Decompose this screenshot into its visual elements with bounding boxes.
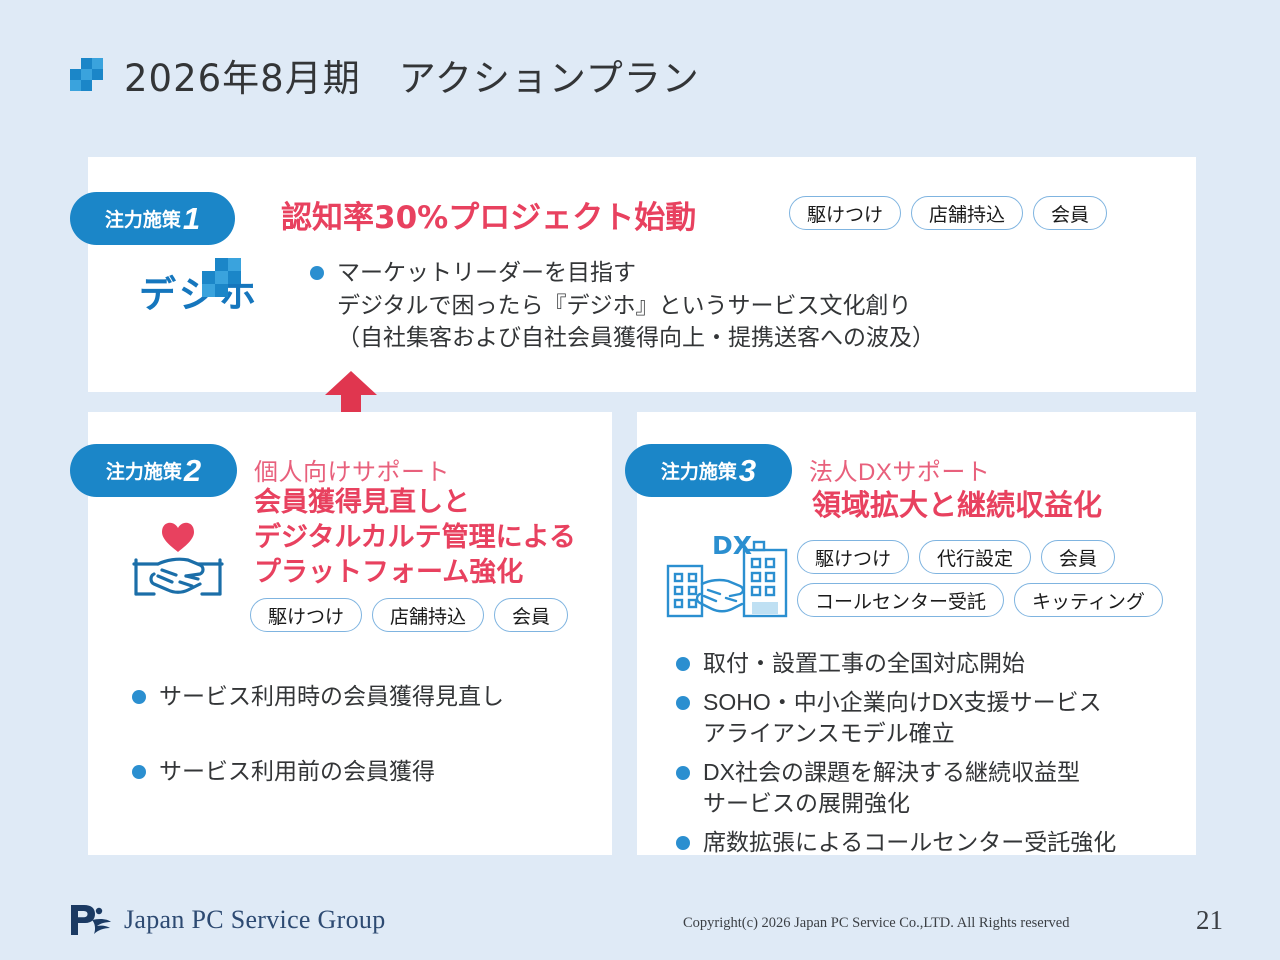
badge-number: 1 [183,203,200,234]
japan-pc-service-logo-icon [68,902,112,938]
list-item-text: 席数拡張によるコールセンター受託強化 [703,827,1116,858]
panel2-subtitle: 個人向けサポート [254,452,450,487]
panel3-bullet-list: 取付・設置工事の全国対応開始 SOHO・中小企業向けDX支援サービス アライアン… [676,648,1116,858]
list-item: DX社会の課題を解決する継続収益型 サービスの展開強化 [676,757,1116,819]
badge-initiative-1: 注力施策 1 [70,192,235,245]
tag-kaiin[interactable]: 会員 [1041,540,1115,574]
bullet-dot-icon [310,266,324,280]
badge-number: 3 [739,455,756,486]
badge-initiative-3: 注力施策 3 [625,444,792,497]
tag-kaiin[interactable]: 会員 [1033,196,1107,230]
badge-label: 注力施策 [661,457,737,484]
footer-copyright: Copyright(c) 2026 Japan PC Service Co.,L… [683,915,1070,932]
list-item: サービス利用前の会員獲得 [132,756,504,787]
badge-label: 注力施策 [106,457,182,484]
tag-daiko-settei[interactable]: 代行設定 [919,540,1031,574]
dejiho-logo-text: デジホ [124,264,274,318]
bullet-dot-icon [132,690,146,704]
panel3-title: 領域拡大と継続収益化 [812,482,1102,524]
panel2-title: 会員獲得見直しと デジタルカルテ管理による プラットフォーム強化 [254,485,576,590]
bullet-dot-icon [132,765,146,779]
panel3-tag-rows: 駆けつけ 代行設定 会員 コールセンター受託 キッティング [797,540,1163,617]
slide-canvas: 2026年8月期 アクションプラン 注力施策 1 認知率30%プロジェクト始動 … [0,0,1280,960]
panel1-title: 認知率30%プロジェクト始動 [281,192,696,237]
footer-company-name: Japan PC Service Group [124,905,386,935]
list-item: 取付・設置工事の全国対応開始 [676,648,1116,679]
panel2-bullet-list: サービス利用時の会員獲得見直し サービス利用前の会員獲得 [132,681,504,787]
panel1-bullet-item: マーケットリーダーを目指す デジタルで困ったら『デジホ』というサービス文化創り … [310,256,935,354]
badge-label: 注力施策 [105,205,181,232]
list-item: 席数拡張によるコールセンター受託強化 [676,827,1116,858]
pinwheel-logo-icon [68,58,104,92]
footer-logo: Japan PC Service Group [68,902,386,938]
list-item-text: 取付・設置工事の全国対応開始 [703,648,1025,679]
bullet-dot-icon [676,696,690,710]
page-number: 21 [1196,905,1223,936]
handshake-heart-icon [128,518,228,606]
dx-label: DX [712,531,752,560]
panel3-tag-row-1: 駆けつけ 代行設定 会員 [797,540,1163,574]
tag-kitting[interactable]: キッティング [1014,583,1163,617]
panel1-bullet-text: マーケットリーダーを目指す デジタルで困ったら『デジホ』というサービス文化創り … [337,256,935,354]
tag-tenpo-mochikomi[interactable]: 店舗持込 [911,196,1023,230]
list-item: SOHO・中小企業向けDX支援サービス アライアンスモデル確立 [676,687,1116,749]
bullet-dot-icon [676,836,690,850]
panel2-tag-row: 駆けつけ 店舗持込 会員 [250,598,568,632]
tag-kaiin[interactable]: 会員 [494,598,568,632]
bullet-dot-icon [676,766,690,780]
tag-kaketsuke[interactable]: 駆けつけ [797,540,909,574]
buildings-handshake-dx-icon: DX [666,528,788,620]
tag-kaketsuke[interactable]: 駆けつけ [789,196,901,230]
badge-number: 2 [184,455,201,486]
slide-header: 2026年8月期 アクションプラン [68,48,700,102]
list-item: サービス利用時の会員獲得見直し [132,681,504,712]
list-item-text: DX社会の課題を解決する継続収益型 サービスの展開強化 [703,757,1080,819]
page-title: 2026年8月期 アクションプラン [124,48,700,102]
panel3-tag-row-2: コールセンター受託 キッティング [797,583,1163,617]
list-item-text: SOHO・中小企業向けDX支援サービス アライアンスモデル確立 [703,687,1102,749]
panel1-tag-row: 駆けつけ 店舗持込 会員 [789,196,1107,230]
dejiho-logo: デジホ [124,258,274,318]
bullet-dot-icon [676,657,690,671]
badge-initiative-2: 注力施策 2 [70,444,237,497]
tag-tenpo-mochikomi[interactable]: 店舗持込 [372,598,484,632]
tag-kaketsuke[interactable]: 駆けつけ [250,598,362,632]
list-item-text: サービス利用前の会員獲得 [159,756,435,787]
tag-callcenter-jutaku[interactable]: コールセンター受託 [797,583,1004,617]
list-item-text: サービス利用時の会員獲得見直し [159,681,504,712]
